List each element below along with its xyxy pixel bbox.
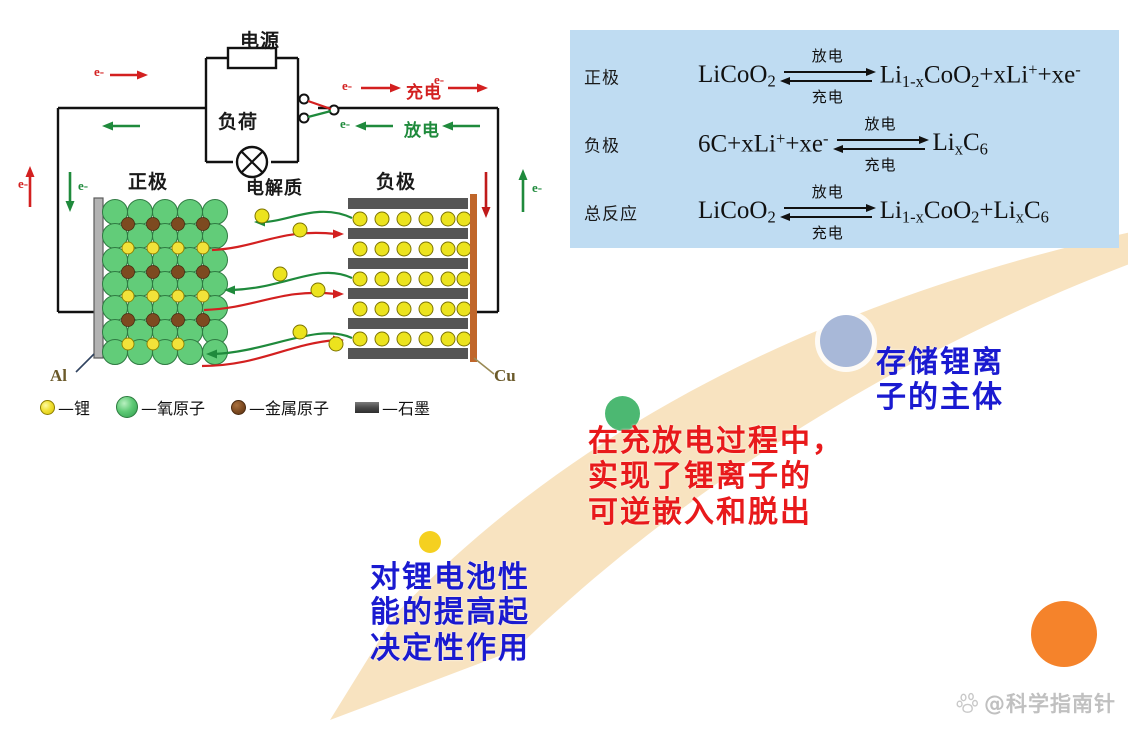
circuit-and-cell-drawing — [18, 22, 558, 422]
electron-label-right-vertical-green: e- — [532, 180, 542, 196]
charge-flow-label: 充电 — [406, 78, 442, 103]
electron-arrow-right-discharge-1 — [355, 122, 393, 131]
electron-label-top-left-charge: e- — [94, 64, 104, 80]
load-lamp-symbol — [237, 147, 267, 177]
arrow-label-discharge-overall: 放电 — [812, 181, 844, 202]
equation-right-term-cathode: Li1-xCoO2+xLi++xe- — [880, 60, 1081, 92]
reaction-arrow-anode: 放电 充电 — [833, 117, 929, 171]
bubble-orange — [1031, 601, 1097, 667]
oxygen-atom-icon — [116, 396, 138, 418]
legend-label-oxygen: —氧原子 — [141, 395, 205, 419]
annotation-blue-bottom-left: 对锂电池性 能的提高起 决定性作用 — [370, 560, 530, 666]
electrolyte-lithium-ions — [255, 209, 343, 351]
diagram-legend: —锂 —氧原子 —金属原子 —石墨 — [40, 392, 540, 422]
anode-graphite-stack — [348, 198, 471, 359]
battery-schematic: 电源 负荷 e- e- e- 充电 e- 放电 e- e- e- 正极 电解质 … — [18, 22, 558, 422]
legend-item-lithium: —锂 — [40, 395, 90, 419]
baidu-paw-icon — [956, 691, 980, 715]
electron-arrow-right-vertical-red — [482, 172, 491, 218]
electron-label-right-discharge: e- — [340, 116, 350, 132]
aluminum-current-collector — [94, 198, 103, 358]
copper-current-collector — [470, 194, 477, 362]
watermark-text: @科学指南针 — [984, 688, 1116, 718]
legend-item-graphite: —石墨 — [355, 395, 430, 419]
arrow-label-discharge-anode: 放电 — [865, 113, 897, 134]
equation-left-term-cathode: LiCoO2 — [698, 61, 776, 92]
anode-label: 负极 — [376, 167, 416, 194]
electron-arrow-left-vertical-green — [66, 172, 75, 212]
arrow-label-charge-anode: 充电 — [865, 154, 897, 175]
reaction-arrow-overall: 放电 充电 — [780, 185, 876, 239]
electron-arrow-right-charge-2 — [448, 84, 488, 93]
equation-row-anode: 负极 6C+xLi++xe- 放电 充电 LixC6 — [570, 110, 1119, 178]
bubble-yellow — [419, 531, 441, 553]
electron-label-left-vertical-red: e- — [18, 176, 28, 192]
legend-label-graphite: —石墨 — [382, 395, 430, 419]
equation-label-overall: 总反应 — [584, 200, 638, 225]
arrow-label-charge-cathode: 充电 — [812, 86, 844, 107]
electron-label-right-charge: e- — [342, 78, 352, 94]
discharge-flow-label: 放电 — [404, 116, 440, 141]
legend-item-oxygen: —氧原子 — [116, 395, 205, 419]
annotation-red-middle: 在充放电过程中， 实现了锂离子的 可逆嵌入和脱出 — [588, 424, 844, 530]
legend-label-lithium: —锂 — [58, 395, 90, 419]
cathode-label: 正极 — [128, 167, 168, 194]
graphite-bar-icon — [355, 402, 379, 413]
copper-collector-label: Cu — [494, 366, 516, 386]
cathode-lattice — [103, 200, 228, 365]
equation-right-term-overall: Li1-xCoO2+LixC6 — [880, 197, 1049, 228]
slide-canvas: 正极 LiCoO2 放电 充电 Li1-xCoO2+xLi++xe- 负 — [0, 0, 1128, 726]
watermark: @科学指南针 — [956, 688, 1116, 718]
power-source-label: 电源 — [240, 26, 280, 53]
bubble-blue-gray — [820, 315, 872, 367]
electron-arrow-right-discharge-2 — [442, 122, 480, 131]
equation-right-term-anode: LixC6 — [933, 129, 988, 160]
equation-label-cathode: 正极 — [584, 64, 620, 89]
lithium-dot-icon — [40, 400, 55, 415]
annotation-blue-top-right: 存储锂离 子的主体 — [876, 345, 1004, 416]
equation-row-overall: 总反应 LiCoO2 放电 充电 Li1-xCoO2+LixC6 — [570, 178, 1119, 246]
electron-arrow-top-left-charge — [110, 71, 148, 80]
electron-label-left-vertical-green: e- — [78, 178, 88, 194]
equation-body-overall: LiCoO2 放电 充电 Li1-xCoO2+LixC6 — [698, 185, 1049, 239]
equation-body-anode: 6C+xLi++xe- 放电 充电 LixC6 — [698, 117, 988, 171]
equation-left-term-overall: LiCoO2 — [698, 197, 776, 228]
electron-arrow-top-left-discharge — [102, 122, 140, 131]
electron-arrow-right-charge-1 — [361, 84, 401, 93]
electrolyte-label: 电解质 — [246, 174, 303, 200]
reaction-arrow-cathode: 放电 充电 — [780, 49, 876, 103]
load-label: 负荷 — [218, 107, 258, 134]
equation-body-cathode: LiCoO2 放电 充电 Li1-xCoO2+xLi++xe- — [698, 49, 1081, 103]
legend-item-metal: —金属原子 — [231, 395, 329, 419]
electron-arrow-right-vertical-green — [519, 169, 528, 212]
legend-label-metal: —金属原子 — [249, 395, 329, 419]
metal-atom-icon — [231, 400, 246, 415]
arrow-label-charge-overall: 充电 — [812, 222, 844, 243]
equation-row-cathode: 正极 LiCoO2 放电 充电 Li1-xCoO2+xLi++xe- — [570, 42, 1119, 110]
reaction-equations-panel: 正极 LiCoO2 放电 充电 Li1-xCoO2+xLi++xe- 负 — [570, 30, 1119, 248]
aluminum-collector-label: Al — [50, 366, 67, 386]
arrow-label-discharge-cathode: 放电 — [812, 45, 844, 66]
equation-label-anode: 负极 — [584, 132, 620, 157]
equation-left-term-anode: 6C+xLi++xe- — [698, 129, 829, 158]
